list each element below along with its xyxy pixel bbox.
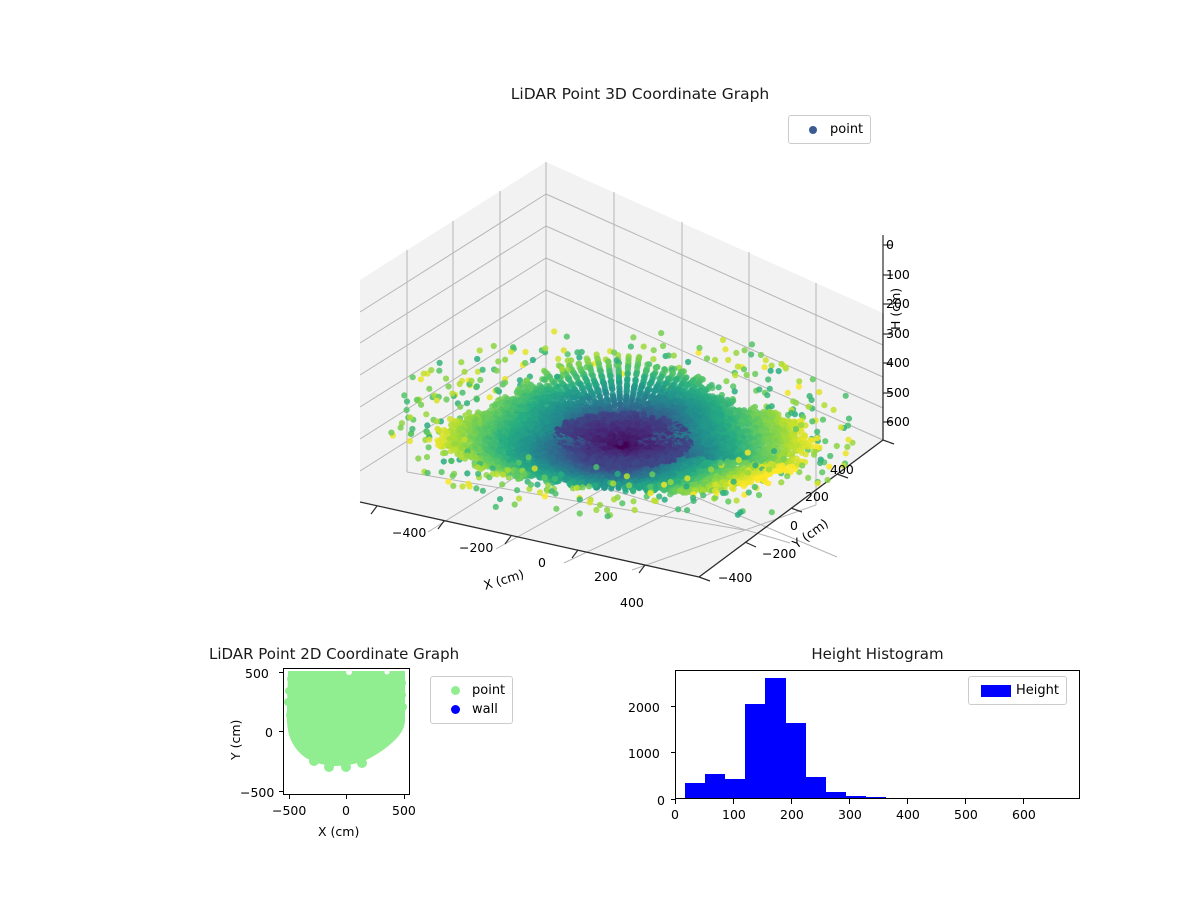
z-tick-label: 400	[886, 355, 910, 370]
y-tick-label: −400	[718, 570, 752, 585]
legend-entry-point: point	[438, 681, 505, 700]
z-tick-label: 100	[886, 267, 910, 282]
point-region	[287, 671, 405, 766]
x-tick-label: 600	[1012, 807, 1036, 822]
y-axis-label: Y (cm)	[228, 720, 243, 760]
x-tick-label: 500	[954, 807, 978, 822]
y-tick-label: −200	[762, 546, 796, 561]
matplotlib-figure: LiDAR Point 3D Coordinate Graph point	[0, 0, 1200, 900]
y-tick-mark	[279, 731, 283, 732]
legend-histogram[interactable]: Height	[968, 676, 1067, 705]
x-tick-mark	[289, 795, 290, 799]
histogram-bar	[765, 678, 785, 798]
histogram-bar	[725, 779, 745, 798]
z-tick-label: 500	[886, 385, 910, 400]
histogram-bar	[866, 797, 886, 798]
y-tick-mark	[671, 706, 675, 707]
axes-3d-canvas	[350, 140, 930, 630]
legend-label: point	[830, 122, 863, 137]
panel-hist-title: Height Histogram	[675, 645, 1080, 663]
x-tick-mark	[965, 799, 966, 804]
y-tick-label: 0	[657, 793, 665, 808]
axes-3d-scatter[interactable]	[350, 140, 930, 630]
legend-label: wall	[472, 702, 498, 717]
y-tick-mark	[671, 752, 675, 753]
z-axis-label: H (cm)	[888, 288, 903, 330]
legend-2d[interactable]: point wall	[430, 676, 513, 724]
x-tick-mark	[1023, 799, 1024, 804]
histogram-bar	[685, 783, 705, 798]
histogram-bar	[745, 704, 765, 798]
x-tick-label: 100	[722, 807, 746, 822]
legend-label: Height	[1016, 683, 1059, 698]
y-tick-label: 400	[830, 462, 854, 477]
x-tick-label: 400	[896, 807, 920, 822]
y-tick-label: 1000	[628, 746, 660, 761]
histogram-bar	[806, 777, 826, 798]
x-tick-label: 200	[780, 807, 804, 822]
x-tick-label: −200	[459, 540, 493, 555]
x-tick-mark	[849, 799, 850, 804]
y-tick-label: 0	[790, 518, 798, 533]
x-tick-mark	[675, 799, 676, 804]
y-tick-label: 200	[805, 489, 829, 504]
point-marker-icon	[796, 126, 830, 134]
panel-2d-title: LiDAR Point 2D Coordinate Graph	[209, 645, 459, 663]
x-tick-label: 300	[838, 807, 862, 822]
x-tick-mark	[346, 795, 347, 799]
x-tick-mark	[791, 799, 792, 804]
histogram-bar	[846, 796, 866, 798]
x-tick-label: 0	[538, 555, 546, 570]
y-tick-mark	[279, 672, 283, 673]
scatter-2d-canvas	[284, 669, 409, 794]
y-tick-mark	[279, 791, 283, 792]
y-tick-label: −500	[240, 785, 274, 800]
histogram-bar	[786, 723, 806, 798]
y-tick-label: 500	[245, 666, 269, 681]
histogram-bar	[826, 792, 846, 798]
point-marker-icon	[438, 686, 472, 695]
panel-3d-title: LiDAR Point 3D Coordinate Graph	[350, 85, 930, 103]
x-tick-label: 200	[594, 569, 618, 584]
x-tick-label: −500	[272, 803, 306, 818]
legend-entry-wall: wall	[438, 700, 505, 719]
z-tick-label: 600	[886, 414, 910, 429]
height-bar-icon	[976, 685, 1016, 697]
x-tick-label: 500	[392, 803, 416, 818]
x-tick-label: 400	[620, 595, 644, 610]
y-tick-label: 2000	[628, 700, 660, 715]
x-axis-label: X (cm)	[318, 824, 359, 839]
histogram-bar	[705, 774, 725, 798]
legend-label: point	[472, 683, 505, 698]
wall-marker-icon	[438, 705, 472, 714]
legend-entry-height: Height	[976, 681, 1059, 700]
x-tick-label: 0	[671, 807, 679, 822]
x-tick-mark	[907, 799, 908, 804]
legend-entry-point: point	[796, 120, 863, 139]
y-tick-label: 0	[265, 725, 273, 740]
x-tick-label: 0	[342, 803, 350, 818]
z-tick-label: 0	[886, 237, 894, 252]
x-tick-label: −400	[392, 525, 426, 540]
x-tick-mark	[404, 795, 405, 799]
x-tick-mark	[733, 799, 734, 804]
axes-2d-scatter[interactable]	[283, 668, 410, 795]
